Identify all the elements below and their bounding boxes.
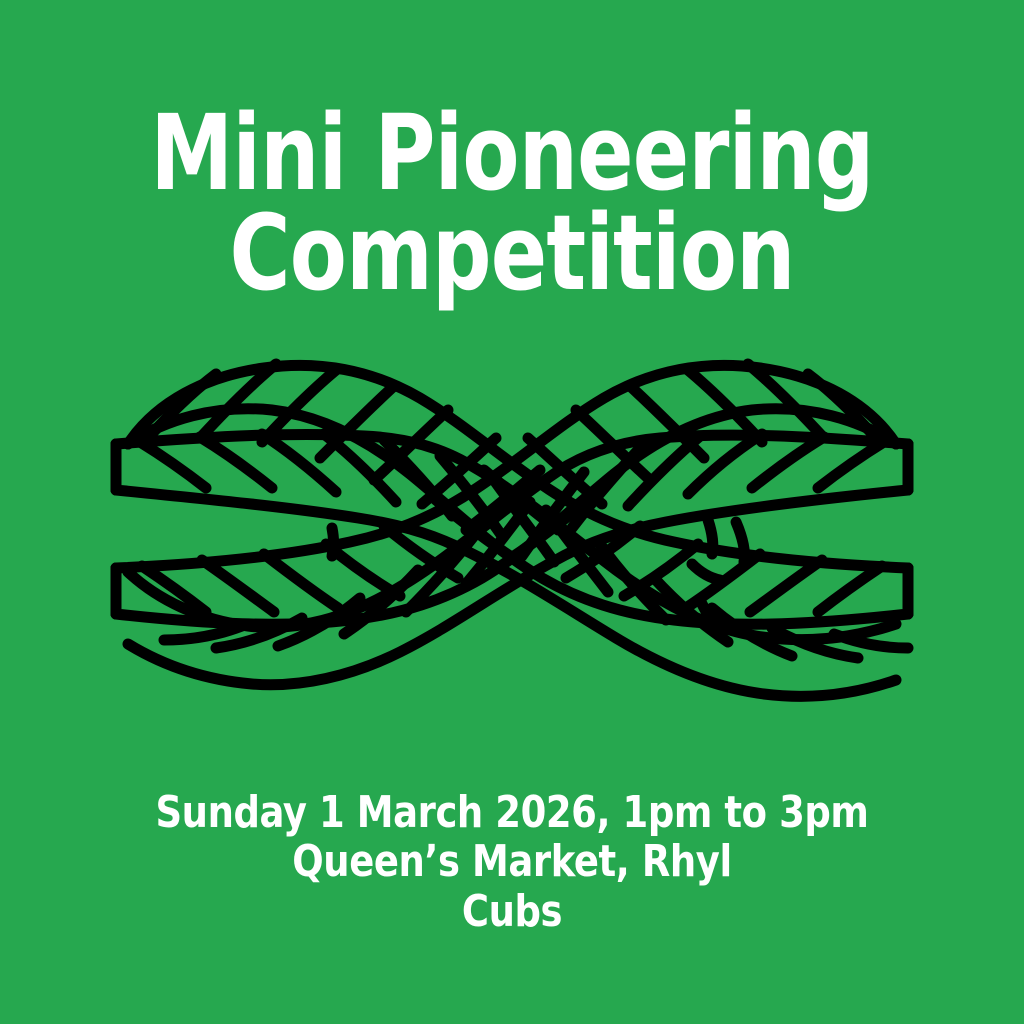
event-date-time: Sunday 1 March 2026, 1pm to 3pm (107, 788, 917, 837)
title-line-1: Mini Pioneering (134, 104, 889, 204)
poster-title: Mini Pioneering Competition (0, 104, 1024, 304)
reef-knot-illustration (96, 332, 928, 724)
event-details: Sunday 1 March 2026, 1pm to 3pm Queen’s … (0, 788, 1024, 936)
reef-knot-icon (96, 332, 928, 724)
title-line-2: Competition (134, 204, 889, 304)
poster-canvas: Mini Pioneering Competition (0, 0, 1024, 1024)
event-venue: Queen’s Market, Rhyl (107, 837, 917, 886)
event-section: Cubs (107, 887, 917, 936)
